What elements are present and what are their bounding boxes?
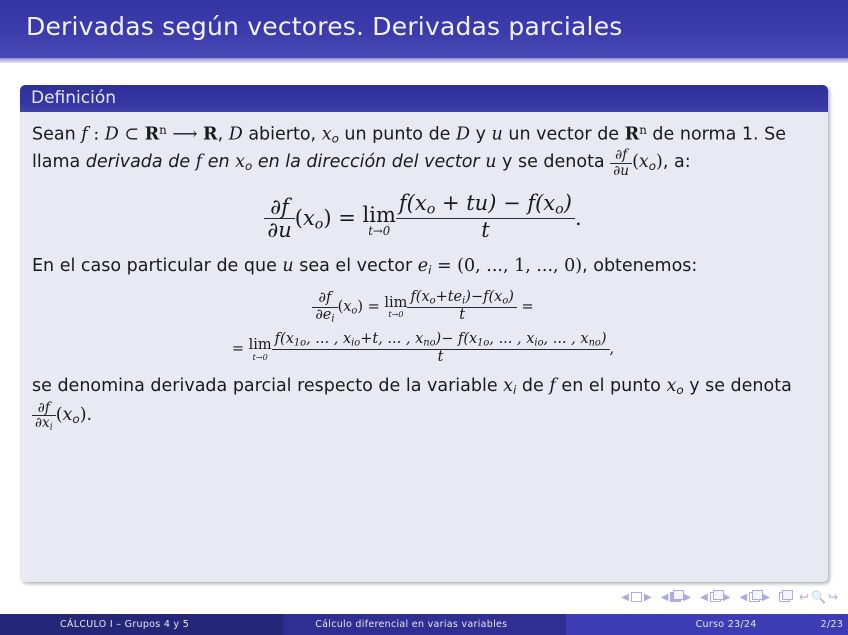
text-de: de — [516, 376, 549, 396]
eq2-qn-b: +te — [436, 289, 463, 305]
eq1-x: x — [303, 206, 315, 230]
slide-next-icon[interactable]: ▶ — [644, 592, 652, 603]
frame-prev-icon[interactable]: ◀ — [661, 592, 669, 603]
p3-paren-close: ) — [80, 404, 87, 424]
symbol-u: u — [492, 124, 503, 144]
footer-date: Curso 23/24 — [696, 619, 757, 630]
text-obtenemos: , obtenemos: — [582, 256, 697, 276]
text-sean: Sean — [32, 124, 81, 144]
presentation-box-icon[interactable] — [779, 592, 790, 602]
eq3-qn-g: ) — [601, 331, 607, 347]
eq1-num: ∂f — [264, 196, 294, 218]
p3-den-sub: i — [50, 421, 53, 432]
symbol-long-arrow: ⟶ — [167, 124, 203, 144]
section-prev-icon[interactable]: ◀ — [740, 592, 748, 603]
text-un-punto-de: un punto de — [339, 124, 456, 144]
displayed-equation-partial-line1: ∂f∂ei(xo) = limt→0f(xo+tei)−f(xo)t = — [32, 290, 814, 325]
fraction-numerator: ∂f — [610, 148, 632, 162]
text-abierto: abierto, — [243, 124, 322, 144]
text-a-colon: , a: — [663, 152, 691, 172]
symbol-D-3: D — [456, 124, 470, 144]
symbol-exponent-n: n — [159, 123, 167, 137]
eq2-trailing-equals: = — [517, 299, 534, 315]
search-icon[interactable]: 🔍 — [811, 590, 826, 604]
back-icon[interactable]: ↩ — [799, 590, 809, 604]
eq2-limit-operator: limt→0 — [384, 296, 407, 319]
slide-box-icon[interactable] — [631, 592, 642, 602]
emph-derivada-de: derivada de — [86, 152, 196, 172]
symbol-colon: : — [88, 124, 105, 144]
definition-block: Definición Sean f : D ⊂ Rn ⟶ R, D abiert… — [20, 85, 828, 582]
symbol-x: x — [322, 124, 332, 144]
section-box-icon[interactable] — [749, 592, 760, 602]
nav-subsection-group[interactable]: ◀ ▶ — [700, 592, 730, 603]
eq3-quotient-denominator: t — [272, 349, 610, 365]
eq2-den: ∂ei — [312, 307, 337, 325]
eq3-qn-c-sub: no — [423, 338, 435, 349]
p3-fraction-denominator: ∂xi — [32, 415, 56, 432]
subsection-next-icon[interactable]: ▶ — [723, 592, 731, 603]
eq2-qn-a: f(x — [410, 289, 429, 305]
eq2-num: ∂f — [312, 291, 337, 306]
eq3-qn-e: , ... , x — [489, 331, 534, 347]
eq3-qn-d-sub: 1o — [477, 338, 489, 349]
eq3-qn-d: )− f(x — [436, 331, 478, 347]
eq3-lim-label: lim — [249, 338, 272, 353]
eq1-period: . — [575, 206, 582, 230]
symbol-D: D — [105, 124, 119, 144]
text-se-denomina: se denomina derivada parcial respecto de… — [32, 376, 503, 396]
eq3-limit-operator: limt→0 — [249, 338, 272, 361]
section-next-icon[interactable]: ▶ — [762, 592, 770, 603]
eq2-equals: = — [363, 299, 384, 315]
p3-paren-open: ( — [56, 404, 63, 424]
p3-arg-x-sub: o — [72, 411, 79, 425]
nav-frame-group[interactable]: ◀ ▶ — [661, 592, 691, 603]
beamer-slide: { "slide": { "title": "Derivadas según v… — [0, 0, 848, 635]
symbol-R-blackboard-2: R — [203, 124, 218, 144]
eq3-qn-a: f(x — [275, 331, 294, 347]
eq3-qn-b-sub: io — [351, 338, 360, 349]
eq1-lim-label: lim — [363, 205, 396, 226]
eq2-quotient-denominator: t — [407, 307, 516, 323]
eq3-lim-subscript: t→0 — [249, 353, 272, 361]
footer-frame-number: 2/23 — [821, 619, 844, 630]
emph-en-la-direccion: en la dirección del vector — [252, 152, 485, 172]
displayed-equation-directional-derivative: ∂f∂u(xo) = limt→0f(xo + tu) − f(xo)t. — [32, 192, 814, 241]
emph-en: en — [202, 152, 235, 172]
eq3-equals: = — [232, 341, 249, 357]
p2-vector-definition: = (0, ..., 1, ..., 0) — [431, 256, 582, 276]
subsection-box-icon[interactable] — [710, 592, 721, 602]
eq1-den: ∂u — [264, 218, 294, 241]
eq1-qn-a: f(x — [399, 191, 427, 215]
eq1-qn-b: + tu) − f(x — [435, 191, 555, 215]
text-comma-1: , — [218, 124, 229, 144]
eq1-qn-c: ) — [564, 191, 572, 215]
emph-symbol-u: u — [485, 152, 496, 172]
symbol-x-arg-subscript: o — [649, 159, 656, 173]
eq1-lim-subscript: t→0 — [363, 226, 396, 238]
text-y-se-denota-2: y se denota — [684, 376, 792, 396]
subsection-prev-icon[interactable]: ◀ — [700, 592, 708, 603]
eq2-den-sub: i — [331, 313, 334, 324]
text-y: y — [470, 124, 491, 144]
footer-date-section: Curso 23/24 2/23 — [566, 614, 848, 635]
emph-symbol-x: x — [235, 152, 245, 172]
beamer-navigation-symbols[interactable]: ◀ ▶ ◀ ▶ ◀ ▶ ◀ ▶ ↩ 🔍 ↪ — [621, 587, 838, 607]
eq3-qn-f-sub: no — [589, 338, 601, 349]
footer-title: Cálculo diferencial en varias variables — [283, 614, 565, 635]
slide-prev-icon[interactable]: ◀ — [621, 592, 629, 603]
p3-symbol-x2: x — [666, 376, 676, 396]
paren-open: ( — [632, 152, 639, 172]
fraction-denominator: ∂u — [610, 163, 632, 178]
eq1-limit-operator: limt→0 — [363, 205, 396, 238]
symbol-x-subscript: o — [332, 131, 339, 145]
eq1-paren-open: ( — [295, 206, 303, 230]
p3-arg-x: x — [63, 404, 73, 424]
eq3-difference-quotient: f(x1o, ... , xio+t, ... , xno)− f(x1o, .… — [272, 332, 610, 365]
eq1-paren-close: ) — [323, 206, 331, 230]
eq1-quotient-numerator: f(xo + tu) − f(xo) — [396, 192, 575, 218]
eq2-den-text: ∂e — [315, 307, 331, 323]
footer-bar: CÁLCULO I – Grupos 4 y 5 Cálculo diferen… — [0, 614, 848, 635]
text-en-el-punto: en el punto — [556, 376, 667, 396]
eq2-qn-d: ) — [508, 289, 514, 305]
eq2-fraction-df-dei: ∂f∂ei — [312, 291, 337, 324]
symbol-R-blackboard-3: R — [625, 124, 640, 144]
eq3-quotient-numerator: f(x1o, ... , xio+t, ... , xno)− f(x1o, .… — [272, 332, 610, 349]
eq1-qn-a-sub: o — [427, 202, 436, 218]
displayed-equation-partial-line2: = limt→0f(x1o, ... , xio+t, ... , xno)− … — [32, 332, 814, 365]
eq1-quotient-denominator: t — [396, 218, 575, 241]
eq1-equals: = — [332, 206, 363, 230]
p2-symbol-e: e — [418, 256, 428, 276]
p3-inline-fraction-df-dxi: ∂f∂xi — [32, 401, 56, 432]
p3-symbol-x: x — [503, 376, 513, 396]
text-un-vector-de: un vector de — [503, 124, 625, 144]
page-title: Derivadas según vectores. Derivadas parc… — [26, 12, 623, 41]
text-sea-el-vector: sea el vector — [294, 256, 418, 276]
eq3-comma: , — [610, 341, 615, 357]
p3-fraction-numerator: ∂f — [32, 401, 56, 415]
nav-history-group[interactable]: ↩ 🔍 ↪ — [799, 590, 838, 604]
eq3-qn-c: +t, ... , x — [360, 331, 423, 347]
symbol-subset: ⊂ — [119, 124, 145, 144]
eq1-difference-quotient: f(xo + tu) − f(xo)t — [396, 192, 575, 241]
eq2-quotient-numerator: f(xo+tei)−f(xo) — [407, 290, 516, 307]
text-en-el-caso: En el caso particular de que — [32, 256, 282, 276]
symbol-exponent-n-2: n — [639, 123, 647, 137]
frame-box-icon[interactable] — [670, 592, 681, 602]
symbol-D-2: D — [229, 124, 243, 144]
eq2-lim-label: lim — [384, 296, 407, 311]
eq2-difference-quotient: f(xo+tei)−f(xo)t — [407, 290, 516, 323]
eq2-lim-subscript: t→0 — [384, 310, 407, 318]
eq2-qn-c: )−f(x — [465, 289, 502, 305]
symbol-x-arg: x — [639, 152, 649, 172]
p3-den-text: ∂x — [35, 415, 50, 431]
p3-symbol-x2-sub: o — [676, 383, 683, 397]
nav-slide-group[interactable]: ◀ ▶ — [621, 592, 651, 603]
p2-symbol-u: u — [282, 256, 293, 276]
forward-icon[interactable]: ↪ — [828, 590, 838, 604]
text-y-se-denota: y se denota — [496, 152, 610, 172]
eq3-qn-a-sub: 1o — [294, 338, 306, 349]
eq3-qn-e-sub: io — [534, 338, 543, 349]
definition-block-body: Sean f : D ⊂ Rn ⟶ R, D abierto, xo un pu… — [20, 112, 828, 582]
definition-paragraph-1: Sean f : D ⊂ Rn ⟶ R, D abierto, xo un pu… — [32, 121, 814, 178]
eq1-qn-b-sub: o — [555, 202, 564, 218]
eq1-fraction-df-du: ∂f∂u — [264, 196, 294, 241]
definition-paragraph-3: se denomina derivada parcial respecto de… — [32, 373, 814, 432]
inline-fraction-df-du: ∂f∂u — [610, 148, 632, 178]
frame-next-icon[interactable]: ▶ — [683, 592, 691, 603]
text-final-period: . — [87, 404, 93, 424]
definition-paragraph-2: En el caso particular de que u sea el ve… — [32, 253, 814, 280]
symbol-R-blackboard: R — [145, 124, 160, 144]
definition-block-title: Definición — [20, 85, 828, 112]
paren-close: ) — [656, 152, 663, 172]
footer-author: CÁLCULO I – Grupos 4 y 5 — [0, 614, 283, 635]
nav-section-group[interactable]: ◀ ▶ — [740, 592, 770, 603]
title-bar-underline — [0, 58, 848, 63]
eq3-qn-b: , ... , x — [306, 331, 351, 347]
eq3-qn-f: , ... , x — [544, 331, 589, 347]
